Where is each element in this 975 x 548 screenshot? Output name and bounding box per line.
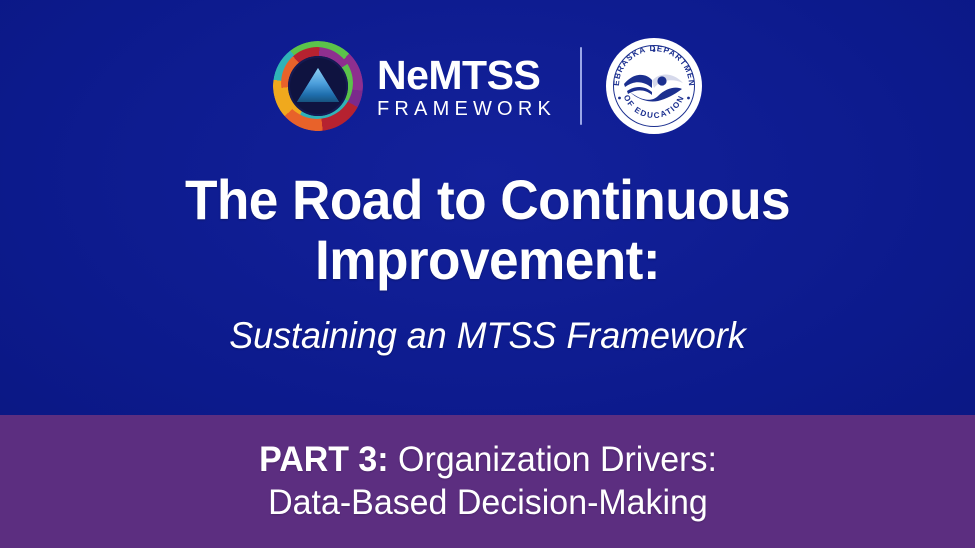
nemtss-name: NeMTSS [377,55,556,96]
part-banner: PART 3: Organization Drivers: Data-Based… [0,415,975,548]
nemtss-framework-label: FRAMEWORK [377,99,556,119]
nebraska-department-of-education-seal-icon: NEBRASKA DEPARTMENT OF EDUCATION [606,38,702,134]
slide-title-line1: The Road to Continuous [24,170,950,230]
part-label: PART 3: [259,440,389,479]
part-banner-line1: PART 3: Organization Drivers: [259,439,717,482]
title-slide: NeMTSS FRAMEWORK NEBRASKA DEPARTMENT OF … [0,0,975,548]
part-banner-text: PART 3: Organization Drivers: Data-Based… [259,439,717,524]
seal-open-book-emblem-icon [622,68,686,104]
nemtss-wordmark: NeMTSS FRAMEWORK [377,53,556,119]
nemtss-logo: NeMTSS FRAMEWORK [273,41,556,131]
title-block: The Road to Continuous Improvement: Sust… [0,170,975,357]
logo-lockup: NeMTSS FRAMEWORK NEBRASKA DEPARTMENT OF … [0,30,975,142]
logo-divider [580,47,582,125]
slide-subtitle: Sustaining an MTSS Framework [15,316,961,357]
nemtss-swirl-triangle-icon [273,41,363,131]
slide-title-line2: Improvement: [24,230,950,290]
part-topic-line2: Data-Based Decision-Making [259,482,717,525]
slide-title: The Road to Continuous Improvement: [24,170,950,290]
part-topic-line1: Organization Drivers: [388,440,716,479]
